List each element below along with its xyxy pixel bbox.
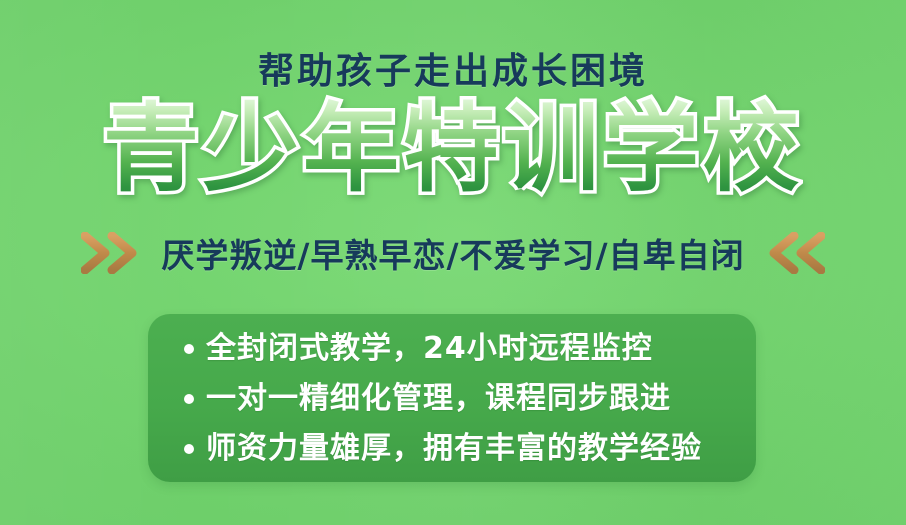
feature-box: 全封闭式教学，24小时远程监控 一对一精细化管理，课程同步跟进 师资力量雄厚，拥… — [148, 314, 756, 482]
bullet-dot-icon — [184, 344, 194, 354]
bullet-dot-icon — [184, 444, 194, 454]
feature-item-label: 全封闭式教学，24小时远程监控 — [206, 328, 653, 370]
poster-canvas: 帮助孩子走出成长困境 青少年特训学校 青少年特训学校 厌学叛逆/早熟 — [0, 0, 906, 525]
feature-item: 师资力量雄厚，拥有丰富的教学经验 — [148, 428, 756, 470]
tagline-row: 厌学叛逆/早熟早恋/不爱学习/自卑自闭 — [0, 228, 906, 278]
double-chevron-right-icon — [81, 232, 147, 274]
feature-item: 全封闭式教学，24小时远程监控 — [148, 328, 756, 370]
feature-item: 一对一精细化管理，课程同步跟进 — [148, 378, 756, 420]
tagline-text: 厌学叛逆/早熟早恋/不爱学习/自卑自闭 — [161, 229, 744, 277]
main-title-fill: 青少年特训学校 — [103, 93, 803, 205]
main-title: 青少年特训学校 青少年特训学校 — [103, 96, 803, 202]
double-chevron-left-icon — [759, 232, 825, 274]
main-title-container: 青少年特训学校 青少年特训学校 — [0, 96, 906, 206]
poster-subtitle: 帮助孩子走出成长困境 — [0, 42, 906, 94]
bullet-dot-icon — [184, 394, 194, 404]
feature-item-label: 师资力量雄厚，拥有丰富的教学经验 — [206, 428, 702, 470]
feature-item-label: 一对一精细化管理，课程同步跟进 — [206, 378, 671, 420]
